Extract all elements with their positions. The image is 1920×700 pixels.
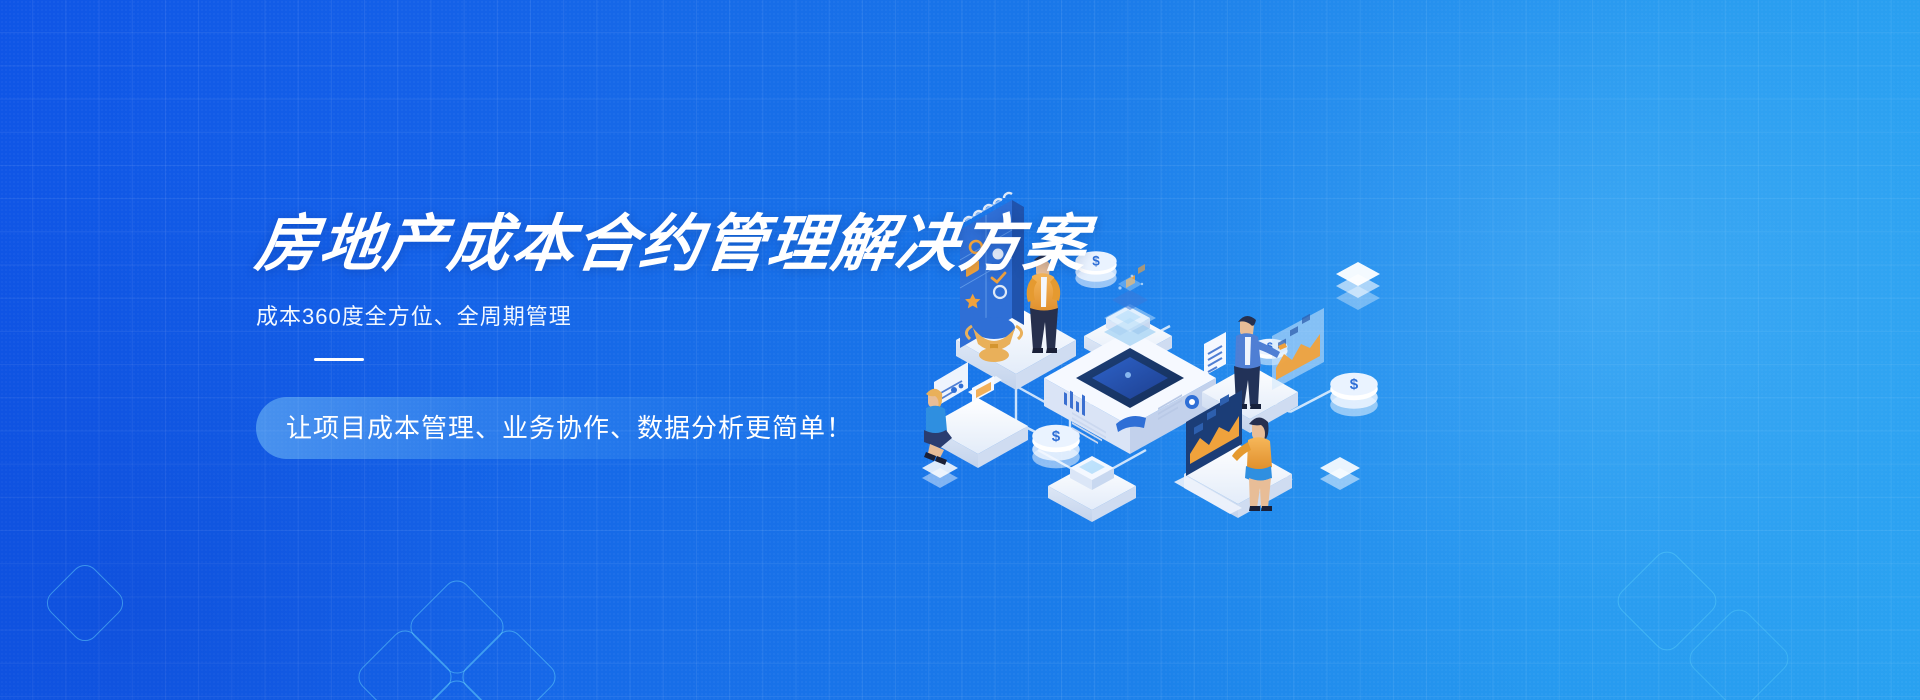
decorative-diamond <box>405 575 510 680</box>
hero-tagline: 让项目成本管理、业务协作、数据分析更简单！ <box>286 397 853 459</box>
decorative-diamond <box>1684 604 1794 700</box>
divider <box>314 358 364 361</box>
decorative-diamond <box>353 625 458 700</box>
hero-banner: $ $ $ $ <box>0 0 1920 700</box>
tagline-pill: 让项目成本管理、业务协作、数据分析更简单！ <box>256 397 887 459</box>
hero-subtitle: 成本360度全方位、全周期管理 <box>256 306 1076 328</box>
svg-text:$: $ <box>1092 254 1100 269</box>
decorative-diamond <box>1612 546 1722 656</box>
floating-cubes <box>1104 277 1156 346</box>
decorative-diamond <box>41 559 129 647</box>
decorative-diamond <box>405 675 510 700</box>
document-card <box>1204 332 1226 376</box>
layered-plates <box>1320 457 1360 490</box>
hero-copy: 房地产成本合约管理解决方案 成本360度全方位、全周期管理 让项目成本管理、业务… <box>256 214 1076 459</box>
coin-stack: $ <box>1330 373 1378 417</box>
decorative-diamond <box>457 625 562 700</box>
layered-plates <box>1336 262 1380 310</box>
page-title: 房地产成本合约管理解决方案 <box>252 214 1080 276</box>
svg-text:$: $ <box>1350 376 1359 393</box>
